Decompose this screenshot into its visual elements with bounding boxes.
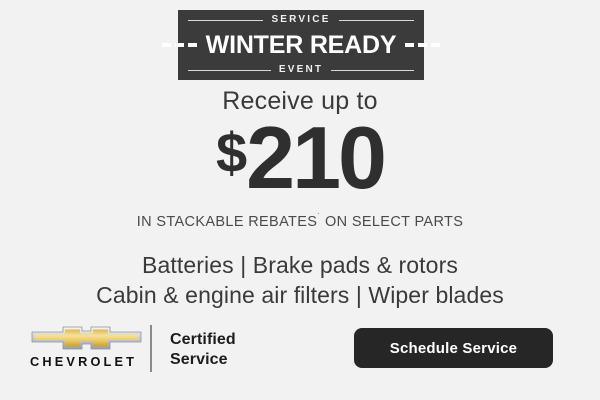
- chevrolet-bowtie-icon: [30, 325, 143, 351]
- chevrolet-brand-lockup: CHEVROLET: [30, 325, 150, 369]
- dash-icon: [418, 43, 427, 47]
- badge-rule-right: [339, 20, 414, 21]
- dash-group-left: [162, 43, 197, 47]
- dash-icon: [175, 43, 184, 47]
- footer-divider: [150, 325, 152, 372]
- badge-title-row: WINTER READY: [178, 25, 424, 65]
- badge-rule-left: [188, 20, 263, 21]
- dash-icon: [188, 43, 197, 47]
- dash-icon: [431, 43, 440, 47]
- schedule-service-button[interactable]: Schedule Service: [354, 328, 553, 368]
- currency-symbol: $: [216, 127, 246, 179]
- chevrolet-wordmark: CHEVROLET: [30, 355, 152, 369]
- certified-line-2: Service: [170, 350, 236, 370]
- services-line-1: Batteries | Brake pads & rotors: [0, 250, 600, 280]
- badge-rule-right-lower: [331, 70, 414, 71]
- rebates-disclaimer: IN STACKABLE REBATES˙ ON SELECT PARTS: [0, 212, 600, 230]
- rebates-text-after: ON SELECT PARTS: [321, 214, 464, 230]
- badge-rule-left-lower: [188, 70, 271, 71]
- certified-service-label: Certified Service: [170, 330, 236, 369]
- badge-event-row: EVENT: [178, 65, 424, 75]
- services-line-2: Cabin & engine air filters | Wiper blade…: [0, 280, 600, 310]
- dash-icon: [162, 43, 171, 47]
- services-list: Batteries | Brake pads & rotors Cabin & …: [0, 250, 600, 311]
- dash-group-right: [405, 43, 440, 47]
- badge-event-label: EVENT: [279, 65, 323, 75]
- badge-title: WINTER READY: [206, 33, 397, 58]
- certified-line-1: Certified: [170, 330, 236, 350]
- badge-service-label: SERVICE: [271, 15, 330, 25]
- offer-amount-group: $ 210: [0, 118, 600, 199]
- offer-block: Receive up to $ 210 IN STACKABLE REBATES…: [0, 88, 600, 230]
- rebates-text-before: IN STACKABLE REBATES: [137, 214, 318, 230]
- winter-ready-event-badge: SERVICE WINTER READY EVENT: [178, 10, 424, 80]
- offer-amount: 210: [246, 118, 384, 199]
- badge-service-row: SERVICE: [178, 15, 424, 25]
- dash-icon: [405, 43, 414, 47]
